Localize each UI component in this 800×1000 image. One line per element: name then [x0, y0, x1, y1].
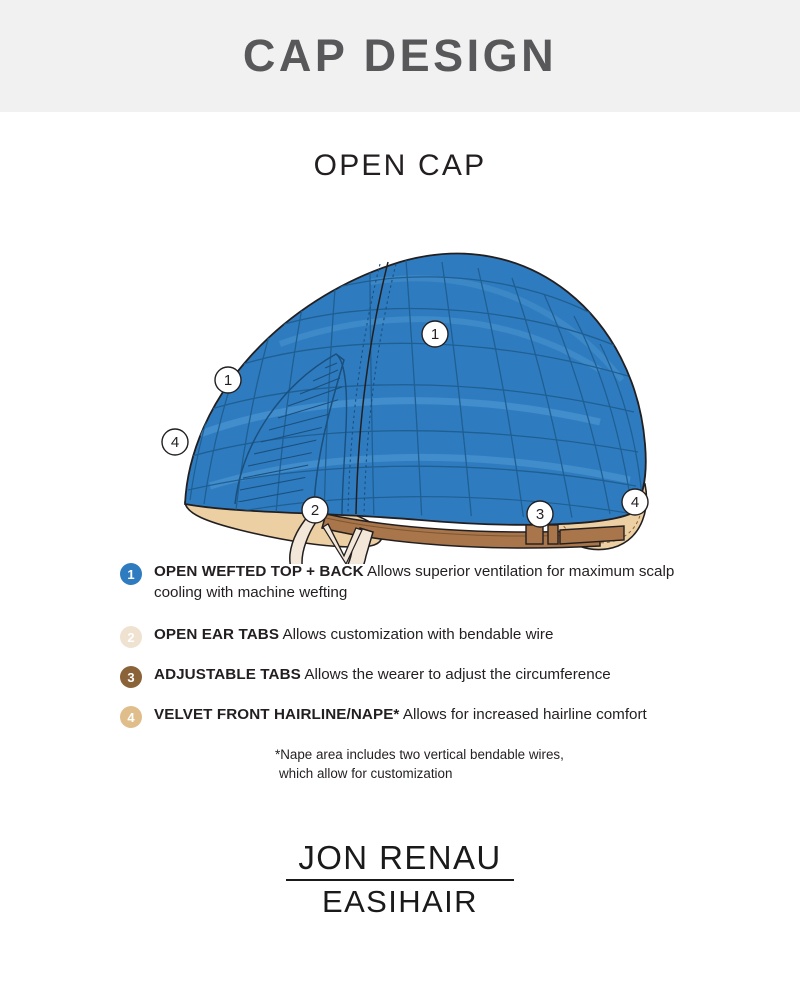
brand-name: JON RENAU — [298, 839, 501, 877]
legend-badge-4: 4 — [120, 706, 142, 728]
callout-3: 3 — [527, 501, 553, 527]
legend-item-4: 4 VELVET FRONT HAIRLINE/NAPE* Allows for… — [120, 705, 800, 728]
callout-4-nape: 4 — [622, 489, 648, 515]
legend-list: 1 OPEN WEFTED TOP + BACK Allows superior… — [0, 562, 800, 783]
callout-3-label: 3 — [536, 506, 544, 523]
section-subtitle: OPEN CAP — [314, 149, 487, 183]
page-title: CAP DESIGN — [243, 30, 557, 82]
legend-footnote: *Nape area includes two vertical bendabl… — [120, 745, 800, 783]
callout-1-front-label: 1 — [224, 372, 232, 389]
legend-desc-4: Allows for increased hairline comfort — [403, 706, 647, 723]
legend-title-4: VELVET FRONT HAIRLINE/NAPE* — [154, 706, 399, 723]
legend-badge-3: 3 — [120, 666, 142, 688]
callout-2: 2 — [302, 497, 328, 523]
legend-text-4: VELVET FRONT HAIRLINE/NAPE* Allows for i… — [154, 705, 647, 726]
callout-4-front-label: 4 — [171, 434, 179, 451]
callout-1-front: 1 — [215, 367, 241, 393]
callout-1-back-label: 1 — [431, 326, 439, 343]
brand-logo: JON RENAU EASIHAIR — [0, 839, 800, 920]
callout-1-back: 1 — [422, 321, 448, 347]
legend-footnote-line2: which allow for customization — [275, 764, 800, 783]
legend-item-3: 3 ADJUSTABLE TABS Allows the wearer to a… — [120, 665, 800, 688]
legend-desc-2: Allows customization with bendable wire — [282, 626, 553, 643]
legend-title-2: OPEN EAR TABS — [154, 626, 279, 643]
legend-desc-3: Allows the wearer to adjust the circumfe… — [304, 666, 610, 683]
legend-badge-1: 1 — [120, 563, 142, 585]
callout-2-label: 2 — [311, 502, 319, 519]
cap-illustration-wrap: 1 1 2 3 4 4 — [0, 174, 800, 562]
callout-4-front: 4 — [162, 429, 188, 455]
brand-sub-name: EASIHAIR — [322, 884, 478, 920]
section-subtitle-wrap: OPEN CAP — [0, 112, 800, 174]
legend-text-1: OPEN WEFTED TOP + BACK Allows superior v… — [154, 562, 714, 603]
legend-title-3: ADJUSTABLE TABS — [154, 666, 301, 683]
page-header: CAP DESIGN — [0, 0, 800, 112]
legend-badge-2: 2 — [120, 626, 142, 648]
cap-body-wefted — [185, 254, 646, 525]
brand-divider — [286, 879, 514, 881]
legend-item-1: 1 OPEN WEFTED TOP + BACK Allows superior… — [120, 562, 800, 603]
legend-text-3: ADJUSTABLE TABS Allows the wearer to adj… — [154, 665, 611, 686]
legend-text-2: OPEN EAR TABS Allows customization with … — [154, 625, 553, 646]
legend-title-1: OPEN WEFTED TOP + BACK — [154, 563, 364, 580]
legend-footnote-line1: *Nape area includes two vertical bendabl… — [275, 745, 800, 764]
legend-item-2: 2 OPEN EAR TABS Allows customization wit… — [120, 625, 800, 648]
callout-4-nape-label: 4 — [631, 494, 639, 511]
open-cap-diagram: 1 1 2 3 4 4 — [130, 184, 670, 564]
